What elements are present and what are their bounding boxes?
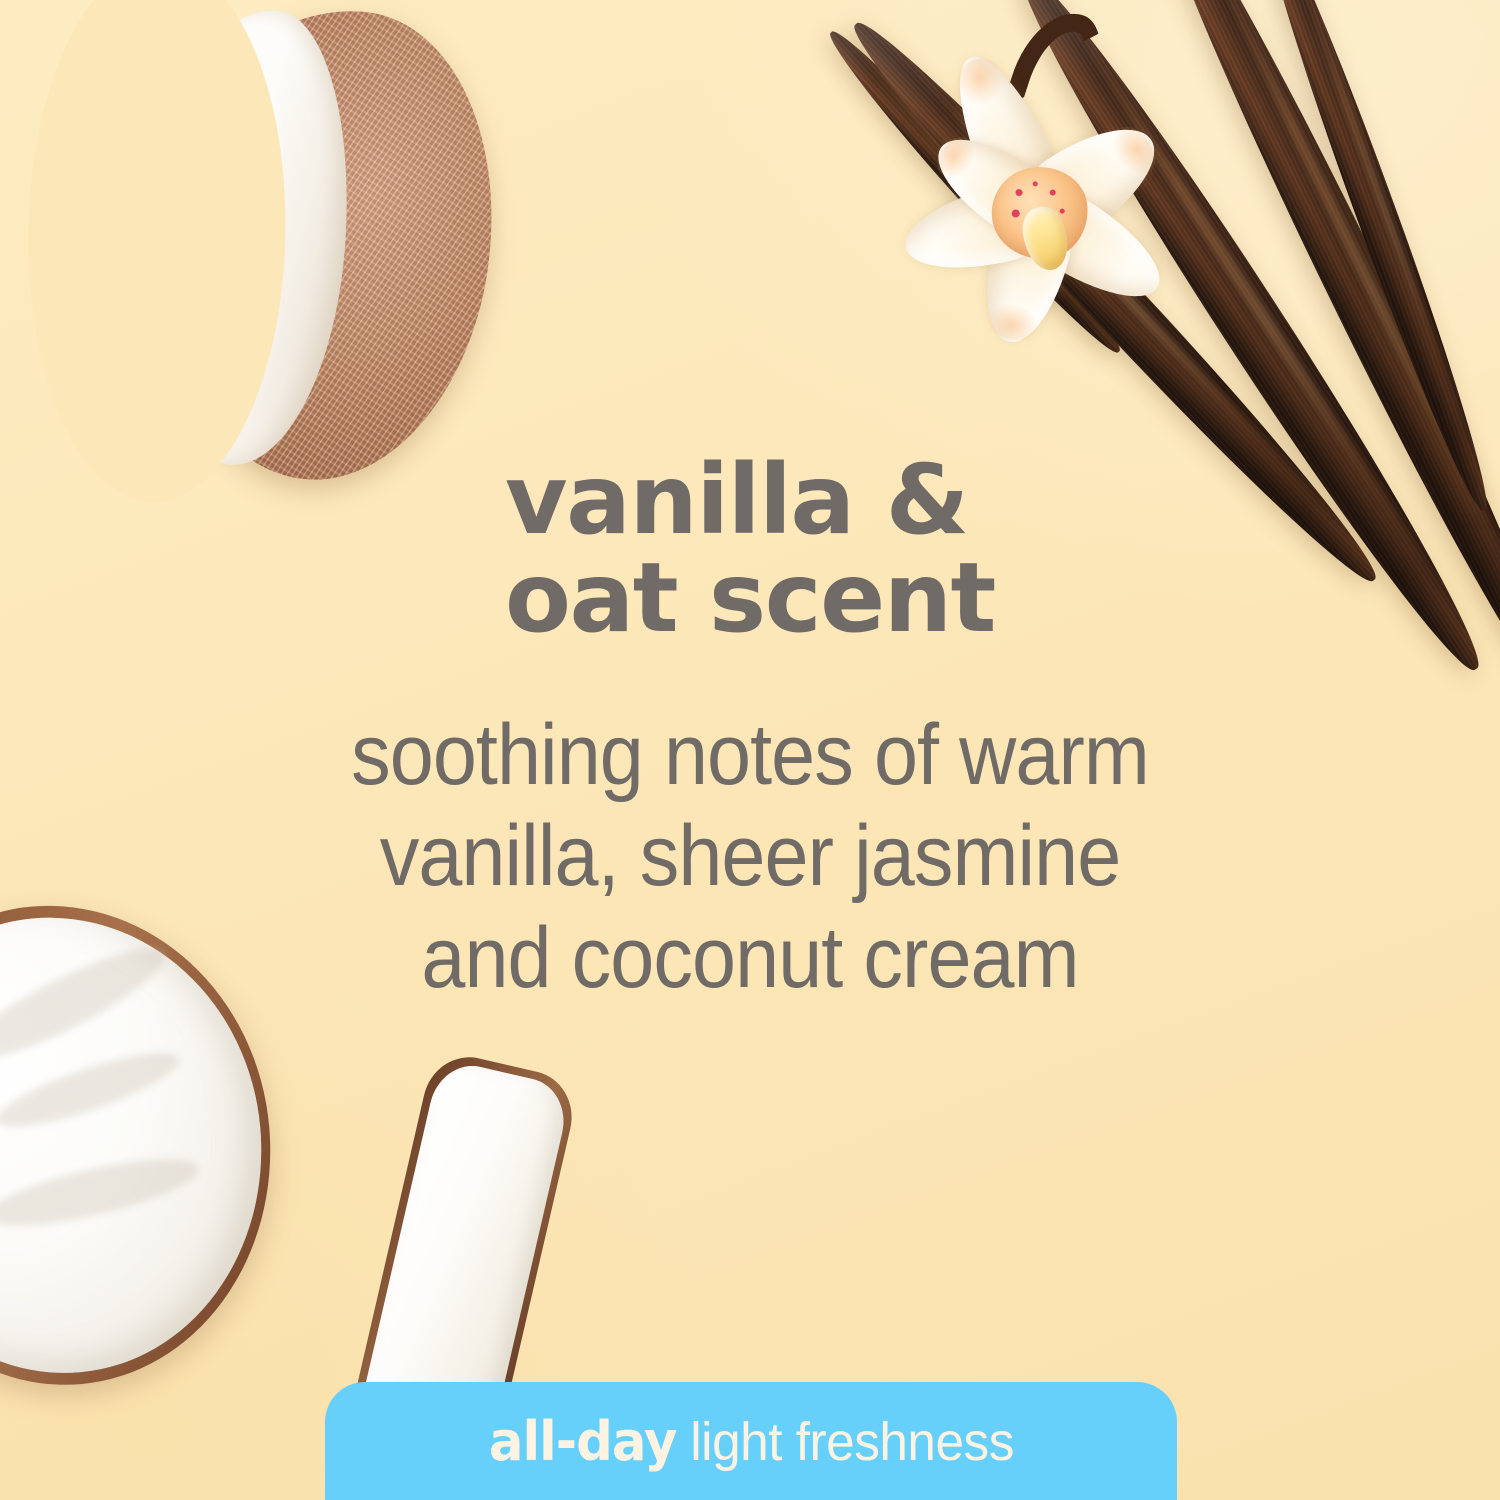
banner-text: all-day light freshness: [488, 1410, 1013, 1473]
coconut-crease: [0, 1039, 185, 1141]
scent-description: soothing notes of warm vanilla, sheer ja…: [152, 705, 1348, 1009]
flower-speckle: [1049, 189, 1056, 196]
flower-speckle: [1011, 209, 1020, 218]
vanilla-orchid-flower: [875, 45, 1206, 385]
page-title: vanilla & oat scent: [505, 452, 995, 648]
flower-speckle: [1059, 208, 1064, 213]
product-scent-card: vanilla & oat scent soothing notes of wa…: [0, 0, 1500, 1500]
flower-speckle: [1032, 181, 1037, 186]
banner-emphasis: all-day: [488, 1410, 676, 1473]
flower-speckle: [1015, 189, 1023, 197]
coconut-crease: [0, 1146, 203, 1239]
all-day-freshness-banner: all-day light freshness: [325, 1382, 1177, 1500]
coconut-crescent-piece: [133, 0, 518, 498]
banner-rest: light freshness: [676, 1412, 1013, 1472]
